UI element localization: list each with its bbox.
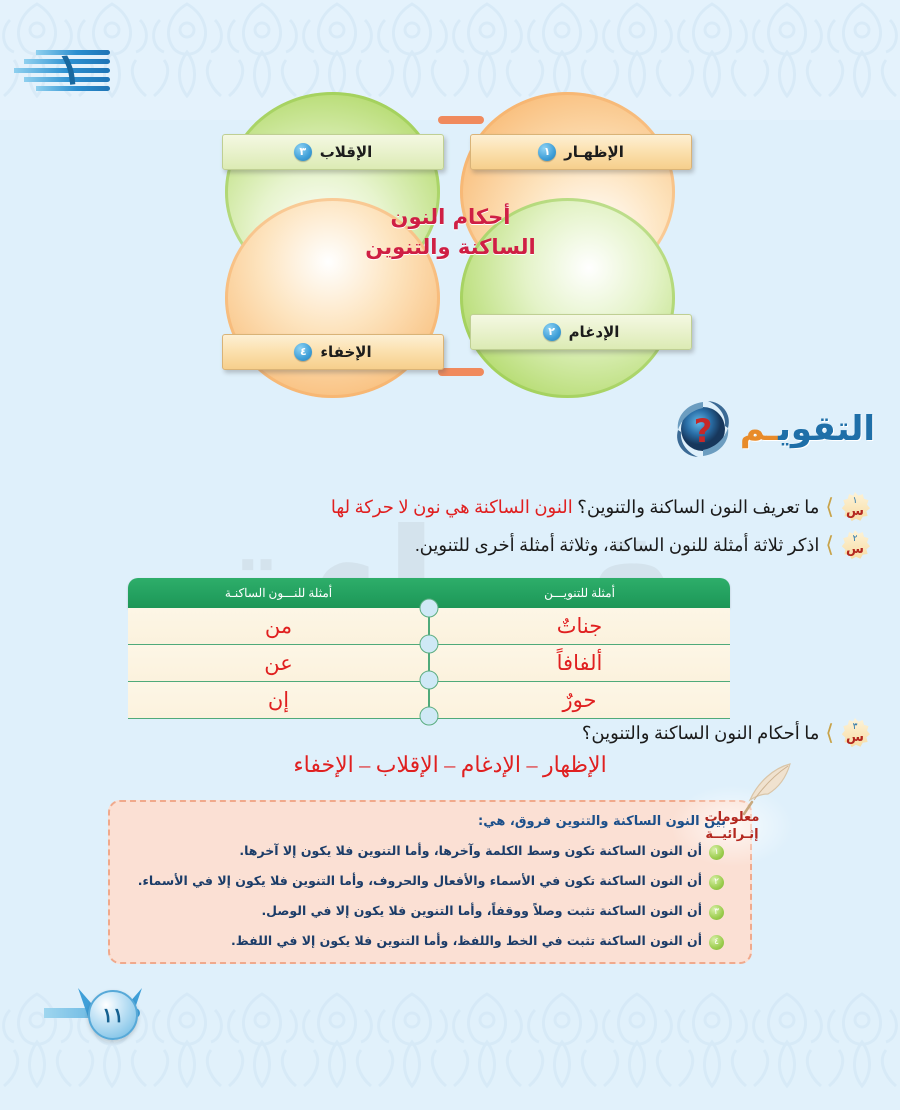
question-row-1: ١ س ⟩ ما تعريف النون الساكنة والتنوين؟ ا… xyxy=(331,492,870,522)
enrichment-text-1: أن النون الساكنة تكون وسط الكلمة وآخرها،… xyxy=(239,842,702,859)
answers-table: أمثلة للتنويـــن أمثلة للنـــون الساكنـة… xyxy=(128,578,730,719)
divider-dot-3 xyxy=(420,671,439,690)
question-mark-swirl-icon: ? xyxy=(670,396,736,462)
list-item: ٤ أن النون الساكنة تثبت في الخط واللفظ، … xyxy=(124,932,724,950)
diagram-center-title: أحكام النون الساكنة والتنوين xyxy=(338,202,563,262)
diagram-node-number-1: ١ xyxy=(538,143,556,161)
diagram-node-iqlab[interactable]: الإقلاب ٣ xyxy=(222,134,444,170)
quill-feather-icon xyxy=(740,760,796,818)
answers-table-divider xyxy=(428,608,430,718)
question-badge-3: ٣ س xyxy=(840,718,870,748)
enrichment-bullet-3: ٣ xyxy=(709,905,724,920)
question-answer-1: النون الساكنة هي نون لا حركة لها xyxy=(331,497,573,517)
enrichment-bullet-4: ٤ xyxy=(709,935,724,950)
enrichment-bullet-1: ١ xyxy=(709,845,724,860)
question-chevron-icon-3: ⟩ xyxy=(825,718,834,748)
question-prompt-1: ما تعريف النون الساكنة والتنوين؟ xyxy=(573,497,820,517)
enrichment-bullet-2: ٢ xyxy=(709,875,724,890)
connector-bottom xyxy=(438,368,484,376)
list-item: ٣ أن النون الساكنة تثبت وصلاً ووقفاً، وأ… xyxy=(124,902,724,920)
diagram-title-line1: أحكام النون xyxy=(338,202,563,232)
question-text-1: ما تعريف النون الساكنة والتنوين؟ النون ا… xyxy=(331,492,820,522)
page-number-value: ١١ xyxy=(88,990,138,1040)
question-chevron-icon-2: ⟩ xyxy=(825,530,834,560)
cell-tanween-3: حورٌ xyxy=(429,682,730,718)
evaluation-title: التقويـم xyxy=(740,409,875,449)
enrichment-info-box: معلومات إثـرائيــة بين النون الساكنة وال… xyxy=(108,800,752,964)
unit-stripes-decoration xyxy=(0,50,110,96)
cell-tanween-2: ألفافاً xyxy=(429,645,730,681)
question-marker-1: س xyxy=(846,506,864,517)
diagram-title-line2: الساكنة والتنوين xyxy=(338,232,563,262)
enrichment-text-3: أن النون الساكنة تثبت وصلاً ووقفاً، وأما… xyxy=(261,902,702,919)
evaluation-title-text: التقوي xyxy=(778,409,875,449)
question-marker-2: س xyxy=(846,544,864,555)
diagram-node-label-iqlab: الإقلاب xyxy=(320,135,373,169)
question-row-2: ٢ س ⟩ اذكر ثلاثة أمثلة للنون الساكنة، وث… xyxy=(415,530,870,560)
diagram-node-label-izhar: الإظهـار xyxy=(564,135,624,169)
cell-saakinah-1: من xyxy=(128,608,429,644)
divider-dot-4 xyxy=(420,707,439,726)
question-text-2: اذكر ثلاثة أمثلة للنون الساكنة، وثلاثة أ… xyxy=(415,530,819,560)
list-item: ١ أن النون الساكنة تكون وسط الكلمة وآخره… xyxy=(124,842,724,860)
divider-dot-1 xyxy=(420,599,439,618)
question-chevron-icon-1: ⟩ xyxy=(825,492,834,522)
enrichment-text-2: أن النون الساكنة تكون في الأسماء والأفعا… xyxy=(138,872,702,889)
evaluation-title-tail: ـم xyxy=(740,409,778,449)
enrichment-title: بين النون الساكنة والتنوين فروق، هي: xyxy=(478,814,726,829)
diagram-node-number-4: ٤ xyxy=(294,343,312,361)
cell-tanween-1: جناتٌ xyxy=(429,608,730,644)
diagram-node-number-2: ٢ xyxy=(543,323,561,341)
question-badge-1: ١ س xyxy=(840,492,870,522)
page-number-badge: ١١ xyxy=(44,988,194,1044)
diagram-node-idgham[interactable]: الإدغام ٢ xyxy=(470,314,692,350)
evaluation-header: التقويـم ? xyxy=(670,396,875,462)
list-item: ٢ أن النون الساكنة تكون في الأسماء والأف… xyxy=(124,872,724,890)
diagram-node-ikhfaa[interactable]: الإخفاء ٤ xyxy=(222,334,444,370)
diagram-node-number-3: ٣ xyxy=(294,143,312,161)
cell-saakinah-2: عن xyxy=(128,645,429,681)
answers-table-header-tanween: أمثلة للتنويـــن xyxy=(429,578,730,608)
concept-diagram: أحكام النون الساكنة والتنوين الإظهـار ١ … xyxy=(170,90,730,400)
answers-table-header-saakinah: أمثلة للنـــون الساكنـة xyxy=(128,578,429,608)
unit-marker: ١ xyxy=(0,44,130,104)
connector-top xyxy=(438,116,484,124)
question-marker-3: س xyxy=(846,732,864,743)
diagram-node-izhar[interactable]: الإظهـار ١ xyxy=(470,134,692,170)
cell-saakinah-3: إن xyxy=(128,682,429,718)
diagram-node-label-idgham: الإدغام xyxy=(569,315,620,349)
svg-text:?: ? xyxy=(694,412,713,450)
question-prompt-3: ما أحكام النون الساكنة والتنوين؟ xyxy=(582,723,820,743)
question-badge-2: ٢ س xyxy=(840,530,870,560)
question-row-3: ٣ س ⟩ ما أحكام النون الساكنة والتنوين؟ xyxy=(582,718,870,748)
question-text-3: ما أحكام النون الساكنة والتنوين؟ xyxy=(582,718,820,748)
enrichment-text-4: أن النون الساكنة تثبت في الخط واللفظ، وأ… xyxy=(231,932,702,949)
diagram-node-label-ikhfaa: الإخفاء xyxy=(320,335,371,369)
divider-dot-2 xyxy=(420,635,439,654)
question-prompt-2: اذكر ثلاثة أمثلة للنون الساكنة، وثلاثة أ… xyxy=(415,535,819,555)
